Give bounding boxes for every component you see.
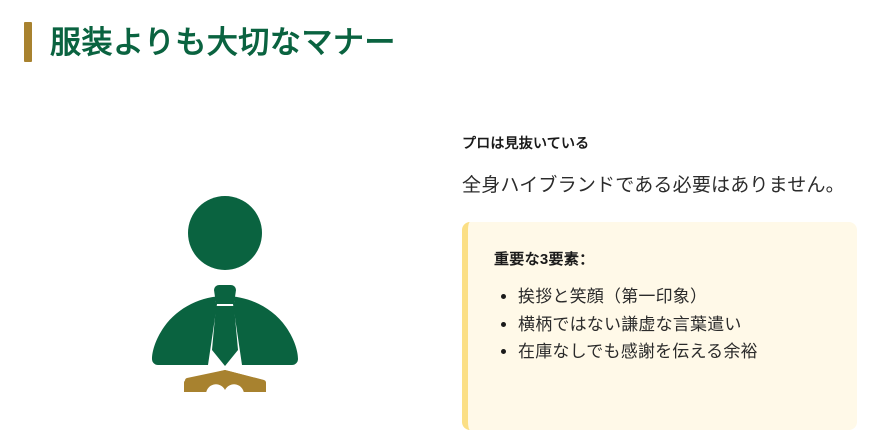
business-person-with-shield-icon	[150, 184, 302, 397]
lead-paragraph: 全身ハイブランドである必要はありません。	[462, 172, 862, 201]
callout-list: 挨拶と笑顔（第一印象） 横柄ではない謙虚な言葉遣い 在庫なしでも感謝を伝える余裕	[494, 283, 837, 366]
person-head-shape	[188, 196, 262, 270]
content-area: プロは見抜いている 全身ハイブランドである必要はありません。 重要な3要素： 挨…	[0, 96, 878, 434]
illustration-column	[0, 96, 452, 434]
shield-body-shape	[184, 370, 266, 392]
list-item: 横柄ではない謙虚な言葉遣い	[518, 311, 837, 339]
list-item-label: 在庫なしでも感謝を伝える余裕	[518, 342, 758, 361]
bullet-dot-icon	[501, 322, 506, 327]
necktie-blade-shape	[212, 306, 238, 366]
list-item: 挨拶と笑顔（第一印象）	[518, 283, 837, 311]
text-column: プロは見抜いている 全身ハイブランドである必要はありません。 重要な3要素： 挨…	[462, 96, 862, 430]
page-title: 服装よりも大切なマナー	[50, 27, 396, 58]
eyebrow-heading: プロは見抜いている	[462, 134, 862, 154]
list-item: 在庫なしでも感謝を伝える余裕	[518, 338, 837, 366]
list-item-label: 横柄ではない謙虚な言葉遣い	[518, 315, 742, 334]
page-header: 服装よりも大切なマナー	[24, 20, 396, 64]
bullet-dot-icon	[501, 349, 506, 354]
necktie-knot-shape	[214, 285, 236, 304]
key-points-callout: 重要な3要素： 挨拶と笑顔（第一印象） 横柄ではない謙虚な言葉遣い 在庫なしでも…	[462, 222, 857, 430]
bullet-dot-icon	[501, 294, 506, 299]
callout-title: 重要な3要素：	[494, 248, 837, 269]
title-accent-bar	[24, 22, 32, 62]
list-item-label: 挨拶と笑顔（第一印象）	[518, 287, 707, 306]
